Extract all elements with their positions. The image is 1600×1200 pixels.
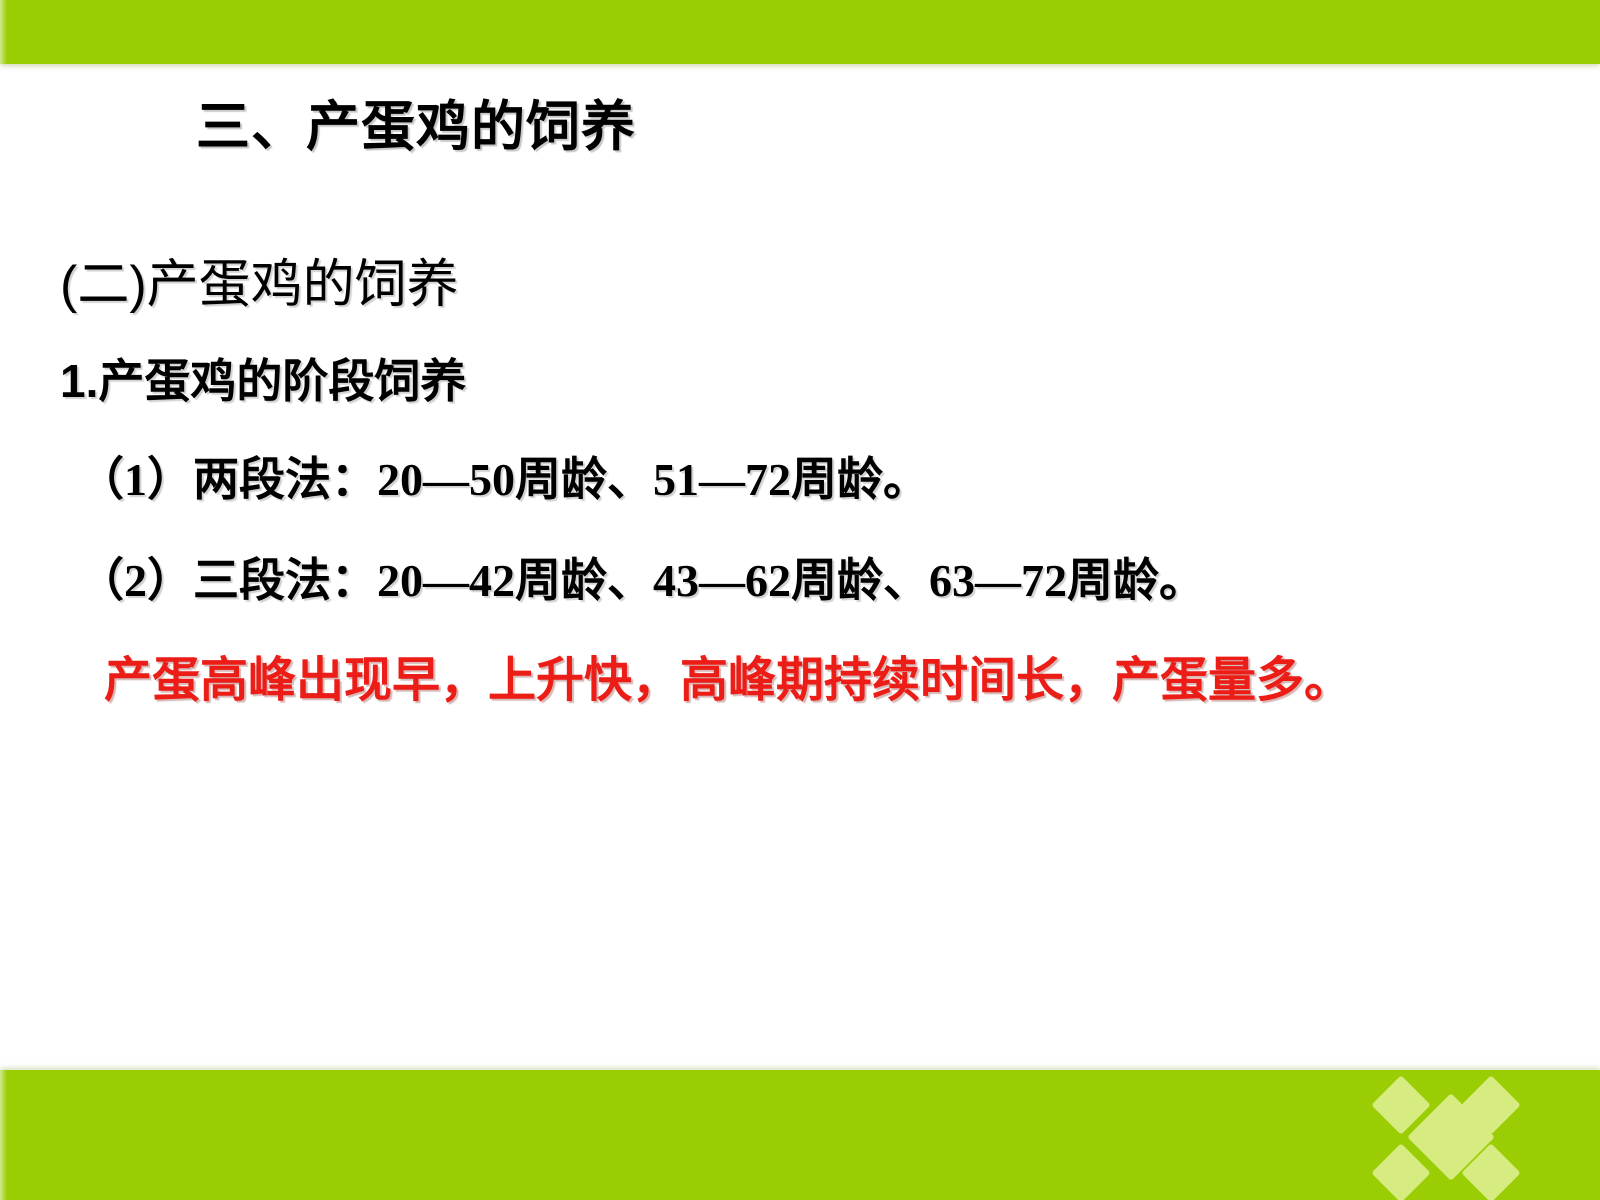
list-item: （1）两段法：20—50周龄、51—72周龄。 xyxy=(78,443,929,509)
section-title: (二)产蛋鸡的饲养 xyxy=(60,242,459,317)
list-item: （2）三段法：20—42周龄、43—62周龄、63—72周龄。 xyxy=(78,544,1205,610)
bottom-green-band xyxy=(0,1070,1600,1200)
highlight-text: 产蛋高峰出现早，上升快，高峰期持续时间长，产蛋量多。 xyxy=(104,640,1352,710)
top-green-band xyxy=(0,0,1600,64)
slide-canvas: 三、产蛋鸡的饲养 (二)产蛋鸡的饲养 1.产蛋鸡的阶段饲养 （1）两段法：20—… xyxy=(0,0,1600,1200)
page-title: 三、产蛋鸡的饲养 xyxy=(196,82,636,161)
diamond-cluster-decoration xyxy=(1362,1078,1542,1198)
subsection-heading: 1.产蛋鸡的阶段饲养 xyxy=(60,345,466,411)
